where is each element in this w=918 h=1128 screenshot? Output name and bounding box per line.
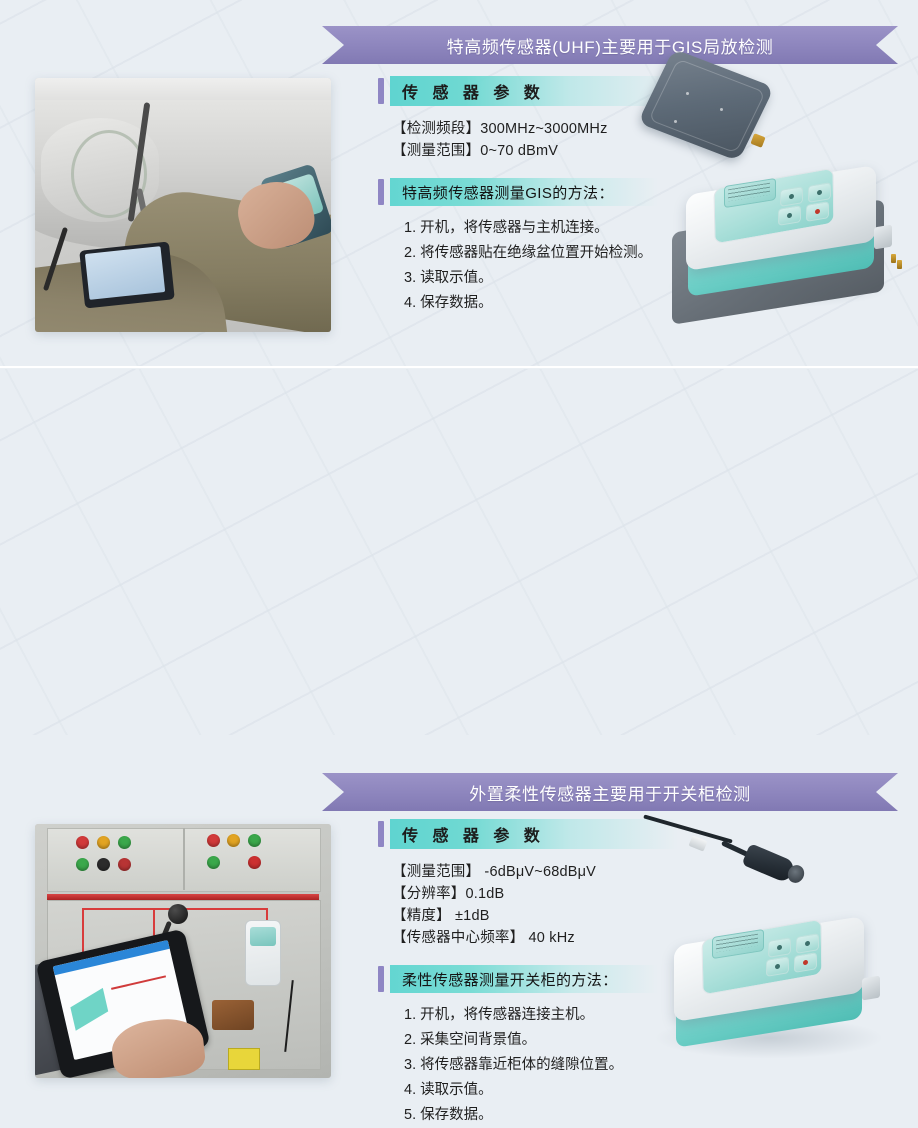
purple-tick-icon: [378, 78, 384, 104]
method-header-flex-label: 柔性传感器测量开关柜的方法：: [402, 969, 618, 990]
param-header-uhf-label: 传 感 器 参 数: [402, 79, 545, 103]
param-list-uhf: 【检测频段】300MHz~3000MHz 【测量范围】0~70 dBmV: [392, 118, 678, 162]
step-item: 3. 将传感器靠近柜体的缝隙位置。: [404, 1053, 678, 1078]
purple-tick-icon: [378, 966, 384, 992]
host-instrument-uhf-image: [672, 170, 894, 310]
method-header-uhf-label: 特高频传感器测量GIS的方法：: [402, 182, 614, 203]
step-list-flex: 1. 开机，将传感器连接主机。 2. 采集空间背景值。 3. 将传感器靠近柜体的…: [404, 1003, 678, 1128]
param-header-flex: 传 感 器 参 数: [378, 819, 678, 849]
banner-uhf: 特高频传感器(UHF)主要用于GIS局放检测: [322, 26, 898, 64]
flexible-sensor-probe-image: [636, 821, 836, 911]
step-list-uhf: 1. 开机，将传感器与主机连接。 2. 将传感器贴在绝缘盆位置开始检测。 3. …: [404, 216, 678, 316]
step-item: 1. 开机，将传感器连接主机。: [404, 1003, 678, 1028]
banner-uhf-title: 特高频传感器(UHF)主要用于GIS局放检测: [447, 33, 774, 58]
text-column-uhf: 传 感 器 参 数 【检测频段】300MHz~3000MHz 【测量范围】0~7…: [378, 76, 678, 316]
param-item: 【传感器中心频率】 40 kHz: [392, 927, 678, 949]
step-item: 2. 采集空间背景值。: [404, 1028, 678, 1053]
banner-flex: 外置柔性传感器主要用于开关柜检测: [322, 773, 898, 811]
uhf-sensor-plate-image: [646, 58, 778, 166]
section-uhf: 特高频传感器(UHF)主要用于GIS局放检测: [0, 0, 918, 366]
method-header-uhf: 特高频传感器测量GIS的方法：: [378, 178, 678, 206]
infographic-page: 特高频传感器(UHF)主要用于GIS局放检测: [0, 0, 918, 735]
param-header-flex-label: 传 感 器 参 数: [402, 822, 545, 846]
param-header-uhf: 传 感 器 参 数: [378, 76, 678, 106]
step-item: 5. 保存数据。: [404, 1103, 678, 1128]
param-item: 【检测频段】300MHz~3000MHz: [392, 118, 678, 140]
host-instrument-flex-image: [660, 921, 882, 1061]
step-item: 3. 读取示值。: [404, 266, 678, 291]
section-flexible: 外置柔性传感器主要用于开关柜检测: [0, 369, 918, 735]
purple-tick-icon: [378, 179, 384, 205]
method-header-flex: 柔性传感器测量开关柜的方法：: [378, 965, 678, 993]
photo-switchgear-inspection: [35, 824, 331, 1078]
step-item: 1. 开机，将传感器与主机连接。: [404, 216, 678, 241]
step-item: 4. 读取示值。: [404, 1078, 678, 1103]
param-item: 【测量范围】0~70 dBmV: [392, 140, 678, 162]
step-item: 2. 将传感器贴在绝缘盆位置开始检测。: [404, 241, 678, 266]
banner-flex-title: 外置柔性传感器主要用于开关柜检测: [469, 780, 751, 805]
section-divider: [0, 366, 918, 369]
purple-tick-icon: [378, 821, 384, 847]
text-column-flex: 传 感 器 参 数 【测量范围】 -6dBμV~68dBμV 【分辨率】0.1d…: [378, 819, 678, 1128]
photo-gis-inspection: [35, 78, 331, 332]
step-item: 4. 保存数据。: [404, 291, 678, 316]
